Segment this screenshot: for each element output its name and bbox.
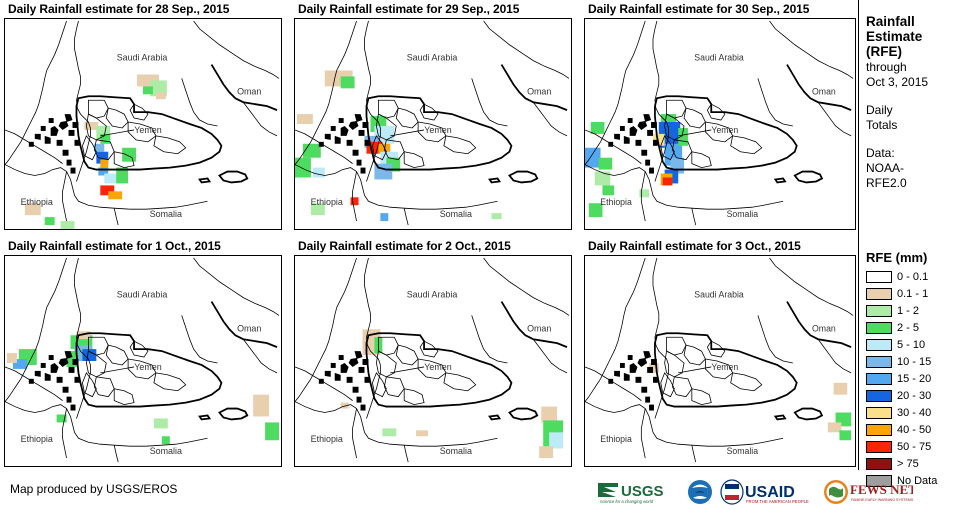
map-label-somalia: Somalia — [727, 446, 759, 456]
small-island — [775, 415, 785, 419]
map-frame[interactable]: Saudi ArabiaOmanYemenEthiopiaSomalia — [584, 255, 856, 467]
governorate-border — [106, 108, 128, 128]
map-label-oman: Oman — [237, 323, 261, 333]
coastline — [692, 208, 696, 225]
legend-swatch — [866, 407, 892, 419]
rain-cell — [492, 213, 502, 219]
rain-cell — [828, 422, 842, 432]
svg-text:FROM THE AMERICAN PEOPLE: FROM THE AMERICAN PEOPLE — [746, 499, 809, 504]
legend-label: 40 - 50 — [897, 424, 931, 436]
terrain-speck — [624, 373, 630, 381]
coastline — [770, 21, 854, 78]
governorate-border — [665, 351, 684, 377]
governorate-border — [106, 345, 128, 365]
governorate-border — [396, 108, 418, 128]
map-place-labels: Saudi ArabiaOmanYemenEthiopiaSomalia — [311, 290, 552, 456]
map-label-oman: Oman — [527, 323, 551, 333]
terrain-speck — [57, 140, 63, 146]
svg-text:FAMINE EARLY WARNING SYSTEMS N: FAMINE EARLY WARNING SYSTEMS NETWORK — [851, 498, 913, 502]
small-island — [200, 178, 210, 182]
terrain-speck — [637, 358, 647, 367]
map-label-saudi_arabia: Saudi Arabia — [407, 53, 458, 63]
terrain-speck — [51, 126, 59, 136]
legend-row: 30 - 40 — [866, 405, 967, 421]
terrain-speck — [341, 363, 349, 373]
rain-cell — [585, 148, 601, 168]
legend-row: 0.1 - 1 — [866, 286, 967, 302]
terrain-speck — [357, 397, 362, 403]
map-label-ethiopia: Ethiopia — [21, 197, 53, 207]
terrain-speck — [628, 118, 633, 123]
panel-3-oct: Daily Rainfall estimate for 3 Oct., 2015… — [584, 239, 856, 467]
legend-swatch — [866, 424, 892, 436]
legend-swatch — [866, 390, 892, 402]
rain-cell — [100, 160, 108, 168]
rain-cell — [265, 422, 279, 440]
map-frame[interactable]: Saudi ArabiaOmanYemenEthiopiaSomalia — [294, 18, 572, 230]
governorate-border — [396, 345, 418, 365]
map-label-ethiopia: Ethiopia — [311, 434, 343, 444]
sidebar-title-line1: Rainfall — [866, 14, 967, 29]
sidebar-totals: Daily Totals — [866, 103, 967, 133]
rainfall-map: Saudi ArabiaOmanYemenEthiopiaSomalia — [585, 256, 855, 466]
legend-label: 0 - 0.1 — [897, 271, 928, 283]
rain-cell — [639, 189, 649, 197]
rainfall-map: Saudi ArabiaOmanYemenEthiopiaSomalia — [295, 256, 571, 466]
coastline — [692, 445, 696, 462]
map-label-yemen: Yemen — [424, 362, 451, 372]
map-label-yemen: Yemen — [134, 125, 161, 135]
coastline — [404, 445, 408, 462]
rain-cell — [156, 92, 166, 99]
socotra-island — [795, 409, 822, 420]
rainfall-map: Saudi ArabiaOmanYemenEthiopiaSomalia — [5, 19, 281, 229]
small-island — [775, 178, 785, 182]
rain-cell — [45, 217, 55, 225]
panel-title: Daily Rainfall estimate for 29 Sep., 201… — [298, 2, 572, 16]
legend-swatch — [866, 305, 892, 317]
terrain-speck — [649, 405, 654, 411]
legend-title: RFE (mm) — [866, 250, 967, 265]
legend-label: 5 - 10 — [897, 339, 925, 351]
governorate-border — [731, 373, 762, 391]
terrain-speck — [67, 397, 72, 403]
rain-cell — [61, 221, 75, 229]
coastline — [114, 445, 118, 462]
terrain-speck — [359, 367, 365, 373]
governorate-border — [154, 136, 186, 154]
terrain-speck — [643, 114, 651, 122]
rain-cell — [253, 395, 269, 417]
data-line2: NOAA- — [866, 161, 967, 176]
terrain-speck — [647, 367, 653, 373]
terrain-speck — [63, 387, 69, 393]
coastline — [641, 409, 645, 459]
map-label-oman: Oman — [812, 323, 836, 333]
coastline — [63, 172, 67, 222]
panel-title: Daily Rainfall estimate for 30 Sep., 201… — [588, 2, 856, 16]
terrain-speck — [636, 377, 642, 383]
governorate-border — [692, 389, 711, 405]
terrain-speck — [325, 134, 331, 140]
terrain-speck — [63, 150, 69, 156]
governorate-border — [684, 345, 705, 365]
terrain-speck — [49, 355, 54, 360]
sidebar-through: through Oct 3, 2015 — [866, 60, 967, 90]
rain-cell — [104, 174, 118, 184]
noaa-logo[interactable] — [687, 478, 713, 506]
governorate-border — [404, 389, 424, 405]
terrain-speck — [355, 114, 363, 122]
legend-swatch — [866, 373, 892, 385]
basemap-outlines — [295, 258, 569, 462]
sidebar-divider — [858, 0, 859, 470]
rain-cell — [313, 168, 325, 178]
map-label-somalia: Somalia — [150, 209, 182, 219]
terrain-speck — [339, 118, 344, 123]
terrain-speck — [59, 121, 69, 130]
rain-cell — [154, 418, 168, 428]
legend-row: 2 - 5 — [866, 320, 967, 336]
terrain-speck — [636, 140, 642, 146]
rain-cell — [143, 86, 153, 94]
coastline — [770, 258, 854, 315]
rain-cell — [595, 172, 611, 186]
rain-cell — [599, 158, 613, 170]
terrain-speck — [628, 355, 633, 360]
socotra-island — [509, 409, 537, 420]
panel-title: Daily Rainfall estimate for 1 Oct., 2015 — [8, 239, 282, 253]
rainfall-map: Saudi ArabiaOmanYemenEthiopiaSomalia — [585, 19, 855, 229]
panel-1-oct: Daily Rainfall estimate for 1 Oct., 2015… — [4, 239, 282, 467]
map-label-saudi_arabia: Saudi Arabia — [694, 53, 744, 63]
map-label-somalia: Somalia — [150, 446, 182, 456]
terrain-speck — [65, 114, 73, 122]
legend-label: 1 - 2 — [897, 305, 919, 317]
rain-cell — [341, 76, 355, 88]
map-label-saudi_arabia: Saudi Arabia — [407, 290, 458, 300]
terrain-speck — [645, 397, 650, 403]
rain-cell — [541, 407, 557, 423]
coastline — [404, 208, 408, 225]
coastline — [484, 258, 569, 315]
map-frame[interactable]: Saudi ArabiaOmanYemenEthiopiaSomalia — [584, 18, 856, 230]
map-label-ethiopia: Ethiopia — [311, 197, 343, 207]
terrain-speck — [630, 126, 638, 136]
legend-label: 0.1 - 1 — [897, 288, 928, 300]
through-label: through — [866, 60, 967, 75]
panel-title: Daily Rainfall estimate for 3 Oct., 2015 — [588, 239, 856, 253]
coastline — [182, 78, 218, 126]
coastline — [472, 315, 508, 363]
terrain-speck — [349, 358, 359, 367]
terrain-speck — [325, 371, 331, 377]
socotra-island — [219, 172, 247, 183]
legend-row: 20 - 30 — [866, 388, 967, 404]
legend-row: 10 - 15 — [866, 354, 967, 370]
map-label-saudi_arabia: Saudi Arabia — [694, 290, 744, 300]
legend-label: 50 - 75 — [897, 441, 931, 453]
rain-cell — [539, 446, 553, 458]
coastline — [114, 208, 118, 225]
governorate-border — [372, 373, 386, 397]
terrain-speck — [649, 168, 654, 174]
coastline — [758, 315, 793, 363]
rain-cell — [382, 428, 396, 436]
terrain-speck — [57, 377, 63, 383]
map-frame[interactable]: Saudi ArabiaOmanYemenEthiopiaSomalia — [4, 18, 282, 230]
rain-cell — [834, 383, 848, 395]
governorate-border — [661, 373, 675, 397]
map-place-labels: Saudi ArabiaOmanYemenEthiopiaSomalia — [600, 53, 836, 220]
svg-text:science for a changing world: science for a changing world — [600, 499, 654, 504]
map-label-yemen: Yemen — [424, 125, 451, 135]
rain-cell — [303, 144, 321, 158]
rain-cell — [663, 177, 673, 185]
legend: RFE (mm) 0 - 0.10.1 - 11 - 22 - 55 - 101… — [866, 250, 967, 490]
socotra-island — [795, 172, 822, 183]
legend-swatch — [866, 441, 892, 453]
rain-cell — [297, 114, 313, 124]
panel-29-sep: Daily Rainfall estimate for 29 Sep., 201… — [294, 2, 572, 230]
legend-row: > 75 — [866, 456, 967, 472]
terrain-speck — [69, 130, 75, 136]
terrain-speck — [69, 367, 75, 373]
terrain-speck — [45, 373, 51, 381]
governorate-border — [684, 108, 705, 128]
legend-label: 10 - 15 — [897, 356, 931, 368]
governorate-border — [82, 373, 96, 397]
through-date: Oct 3, 2015 — [866, 75, 967, 90]
terrain-speck — [71, 168, 76, 174]
sidebar-title-line3: (RFE) — [866, 44, 967, 59]
legend-label: 15 - 20 — [897, 373, 931, 385]
rain-cell — [591, 122, 605, 134]
coastline — [472, 78, 508, 126]
terrain-speck — [339, 355, 344, 360]
rain-cell — [295, 158, 311, 178]
legend-label: 2 - 5 — [897, 322, 919, 334]
terrain-speck — [361, 168, 366, 174]
legend-swatch — [866, 458, 892, 470]
fewsnet-logo[interactable]: FEWS NET FAMINE EARLY WARNING SYSTEMS NE… — [823, 478, 913, 506]
rain-cell — [162, 436, 170, 444]
svg-text:USGS: USGS — [621, 483, 664, 500]
map-label-ethiopia: Ethiopia — [600, 434, 632, 444]
usgs-logo[interactable]: USGS science for a changing world — [596, 478, 680, 506]
map-label-somalia: Somalia — [440, 446, 472, 456]
governorate-border — [444, 136, 476, 154]
basemap-outlines — [5, 21, 279, 225]
terrain-speck — [347, 140, 353, 146]
terrain-speck — [67, 160, 72, 166]
terrain-speck — [45, 136, 51, 144]
governorate-border — [384, 377, 404, 397]
rain-cell — [7, 353, 17, 363]
legend-label: 30 - 40 — [897, 407, 931, 419]
terrain-speck — [353, 387, 359, 393]
rain-cell — [839, 430, 851, 440]
legend-row: 40 - 50 — [866, 422, 967, 438]
terrain-speck — [71, 405, 76, 411]
legend-swatch — [866, 356, 892, 368]
map-frame[interactable]: Saudi ArabiaOmanYemenEthiopiaSomalia — [294, 255, 572, 467]
terrain-speck — [357, 160, 362, 166]
terrain-speck — [624, 136, 630, 144]
terrain-speck — [41, 363, 46, 368]
terrain-speck — [641, 150, 647, 156]
terrain-speck — [35, 371, 41, 377]
panel-title: Daily Rainfall estimate for 28 Sep., 201… — [8, 2, 282, 16]
map-label-yemen: Yemen — [711, 125, 738, 135]
coastline — [182, 315, 218, 363]
rain-cell — [122, 148, 136, 162]
map-frame[interactable]: Saudi ArabiaOmanYemenEthiopiaSomalia — [4, 255, 282, 467]
governorate-border — [114, 389, 134, 405]
basemap-outlines — [295, 21, 569, 225]
terrain-speck — [645, 160, 650, 166]
terrain-speck — [647, 130, 653, 136]
map-credit: Map produced by USGS/EROS — [10, 482, 177, 496]
panel-title: Daily Rainfall estimate for 2 Oct., 2015 — [298, 239, 572, 253]
sidebar-title: Rainfall Estimate (RFE) — [866, 14, 967, 59]
terrain-speck — [35, 134, 41, 140]
governorate-border — [94, 377, 114, 397]
terrain-speck — [355, 351, 363, 359]
rain-cell — [602, 185, 614, 195]
sidebar-data-source: Data: NOAA- RFE2.0 — [866, 146, 967, 191]
totals-line2: Totals — [866, 118, 967, 133]
rain-cell — [380, 213, 388, 221]
map-label-yemen: Yemen — [711, 362, 738, 372]
governorate-border — [404, 152, 424, 168]
basemap-outlines — [5, 258, 279, 462]
terrain-speck — [347, 377, 353, 383]
data-line1: Data: — [866, 146, 967, 161]
terrain-speck — [49, 118, 54, 123]
terrain-speck — [331, 363, 336, 368]
terrain-speck — [51, 363, 59, 373]
coastline — [484, 21, 569, 78]
rainfall-map: Saudi ArabiaOmanYemenEthiopiaSomalia — [5, 256, 281, 466]
map-label-somalia: Somalia — [440, 209, 472, 219]
terrain-speck — [331, 126, 336, 131]
terrain-speck — [620, 363, 625, 368]
map-label-oman: Oman — [527, 86, 551, 96]
legend-row: 1 - 2 — [866, 303, 967, 319]
terrain-speck — [353, 150, 359, 156]
governorate-border — [82, 136, 96, 160]
terrain-speck — [349, 121, 359, 130]
terrain-speck — [637, 121, 647, 130]
socotra-island — [509, 172, 537, 183]
socotra-island — [219, 409, 247, 420]
coastline — [194, 21, 279, 78]
legend-row: 15 - 20 — [866, 371, 967, 387]
rain-cell — [416, 430, 428, 436]
coastline — [194, 258, 279, 315]
small-island — [490, 178, 500, 182]
map-label-yemen: Yemen — [134, 362, 161, 372]
map-label-saudi_arabia: Saudi Arabia — [117, 290, 168, 300]
terrain-speck — [359, 130, 365, 136]
legend-swatch — [866, 322, 892, 334]
governorate-border — [731, 136, 762, 154]
map-label-oman: Oman — [812, 86, 836, 96]
legend-row: 5 - 10 — [866, 337, 967, 353]
map-label-saudi_arabia: Saudi Arabia — [117, 53, 168, 63]
map-label-ethiopia: Ethiopia — [21, 434, 53, 444]
legend-label: > 75 — [897, 458, 919, 470]
map-label-ethiopia: Ethiopia — [600, 197, 632, 207]
coastline — [353, 172, 357, 222]
usaid-logo[interactable]: USAID FROM THE AMERICAN PEOPLE — [720, 478, 816, 506]
legend-swatch — [866, 288, 892, 300]
coastline — [758, 78, 793, 126]
rain-cell — [351, 197, 359, 205]
sidebar-title-line2: Estimate — [866, 29, 967, 44]
governorate-border — [444, 373, 476, 391]
terrain-speck — [641, 387, 647, 393]
small-island — [200, 415, 210, 419]
legend-row: 0 - 0.1 — [866, 269, 967, 285]
rainfall-map: Saudi ArabiaOmanYemenEthiopiaSomalia — [295, 19, 571, 229]
legend-swatch — [866, 339, 892, 351]
terrain-speck — [361, 405, 366, 411]
terrain-speck — [614, 134, 620, 140]
legend-label: 20 - 30 — [897, 390, 931, 402]
logo-strip: USGS science for a changing world USAID … — [596, 478, 913, 506]
terrain-speck — [335, 136, 341, 144]
terrain-speck — [643, 351, 651, 359]
coastline — [353, 409, 357, 459]
data-line3: RFE2.0 — [866, 176, 967, 191]
governorate-border — [154, 373, 186, 391]
terrain-speck — [614, 371, 620, 377]
governorate-border — [692, 152, 711, 168]
governorate-border — [672, 377, 691, 397]
terrain-speck — [41, 126, 46, 131]
panel-30-sep: Daily Rainfall estimate for 30 Sep., 201… — [584, 2, 856, 230]
panel-28-sep: Daily Rainfall estimate for 28 Sep., 201… — [4, 2, 282, 230]
rain-cell — [549, 432, 563, 448]
panel-2-oct: Daily Rainfall estimate for 2 Oct., 2015… — [294, 239, 572, 467]
map-label-oman: Oman — [237, 86, 261, 96]
legend-row: 50 - 75 — [866, 439, 967, 455]
svg-text:FEWS NET: FEWS NET — [850, 482, 913, 497]
terrain-speck — [620, 126, 625, 131]
legend-rows: 0 - 0.10.1 - 11 - 22 - 55 - 1010 - 1515 … — [866, 269, 967, 489]
map-label-somalia: Somalia — [727, 209, 759, 219]
rain-cell — [108, 191, 122, 199]
map-place-labels: Saudi ArabiaOmanYemenEthiopiaSomalia — [21, 290, 262, 456]
totals-line1: Daily — [866, 103, 967, 118]
terrain-speck — [335, 373, 341, 381]
terrain-speck — [630, 363, 638, 373]
legend-swatch — [866, 271, 892, 283]
small-island — [490, 415, 500, 419]
terrain-speck — [341, 126, 349, 136]
map-place-labels: Saudi ArabiaOmanYemenEthiopiaSomalia — [600, 290, 836, 457]
